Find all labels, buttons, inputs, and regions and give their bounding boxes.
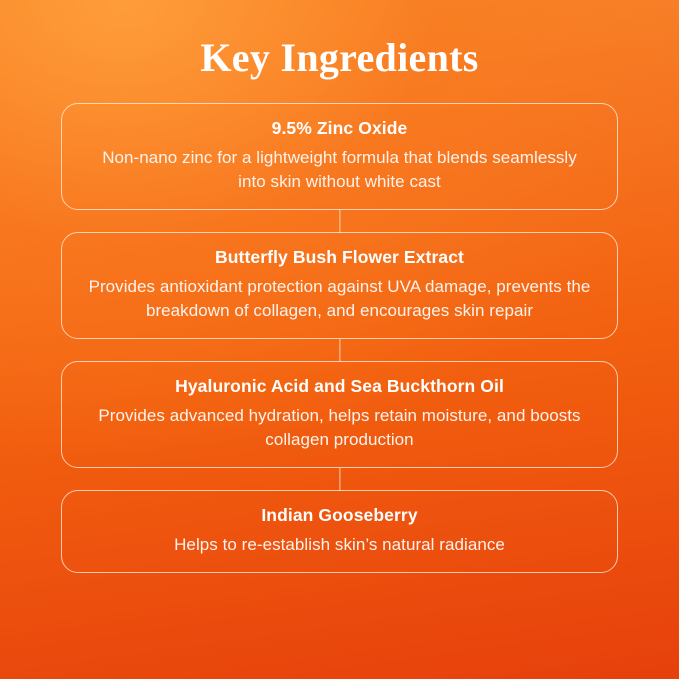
ingredient-description: Provides antioxidant protection against … xyxy=(88,275,591,323)
ingredient-card-indian-gooseberry: Indian Gooseberry Helps to re-establish … xyxy=(61,490,618,573)
ingredient-title: Indian Gooseberry xyxy=(88,504,591,527)
ingredient-card-butterfly-bush-flower-extract: Butterfly Bush Flower Extract Provides a… xyxy=(61,232,618,339)
ingredient-title: Butterfly Bush Flower Extract xyxy=(88,246,591,269)
ingredient-card-zinc-oxide: 9.5% Zinc Oxide Non-nano zinc for a ligh… xyxy=(61,103,618,210)
ingredient-description: Provides advanced hydration, helps retai… xyxy=(88,404,591,452)
ingredient-card-hyaluronic-acid-sea-buckthorn-oil: Hyaluronic Acid and Sea Buckthorn Oil Pr… xyxy=(61,361,618,468)
ingredient-title: 9.5% Zinc Oxide xyxy=(88,117,591,140)
ingredient-description: Helps to re-establish skin’s natural rad… xyxy=(88,533,591,557)
ingredient-title: Hyaluronic Acid and Sea Buckthorn Oil xyxy=(88,375,591,398)
page-title: Key Ingredients xyxy=(200,0,478,81)
ingredients-poster: Key Ingredients 9.5% Zinc Oxide Non-nano… xyxy=(0,0,679,679)
ingredient-description: Non-nano zinc for a lightweight formula … xyxy=(88,146,591,194)
ingredient-card-stack: 9.5% Zinc Oxide Non-nano zinc for a ligh… xyxy=(61,103,618,573)
